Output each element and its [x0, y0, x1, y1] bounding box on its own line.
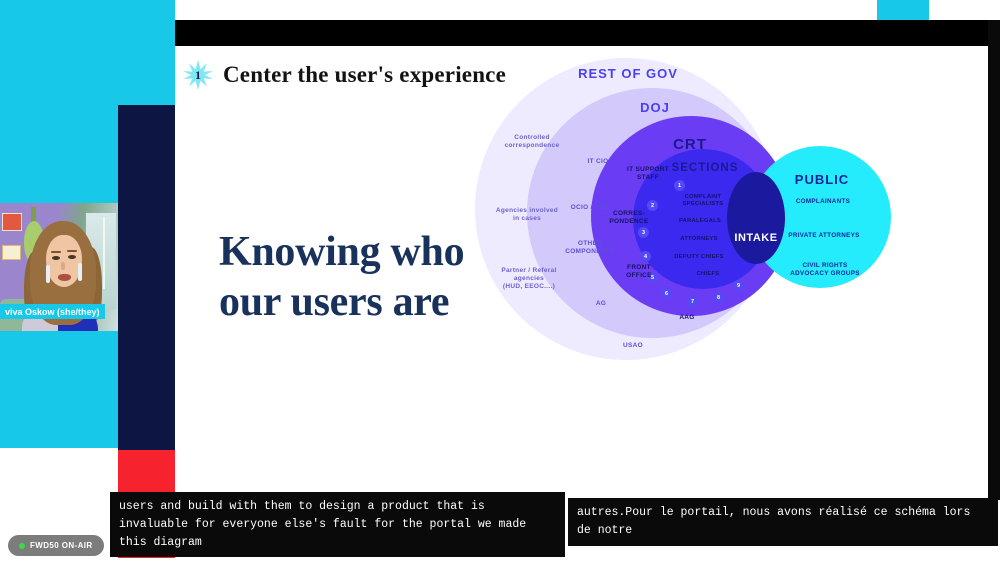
- sections-item: COMPLAINT SPECIALISTS: [661, 194, 745, 208]
- top-right-white-block: [929, 0, 1000, 22]
- doj-item: IT CIO: [571, 158, 625, 166]
- step-number: 1: [183, 60, 213, 90]
- top-white-band: [175, 0, 877, 20]
- section-number-dot: 1: [674, 180, 685, 191]
- on-air-label: FWD50 ON-AIR: [30, 541, 93, 550]
- speaker-webcam[interactable]: viva Oskow (she/they): [0, 203, 118, 331]
- wall-art-icon: [2, 245, 21, 260]
- slide-heading-line-1: Knowing who: [219, 228, 519, 278]
- on-air-status-dot: [19, 543, 25, 549]
- stream-stage: 1 Center the user's experience Knowing w…: [0, 0, 1000, 564]
- doj-item: USAO: [613, 342, 653, 350]
- section-number-dot: 7: [687, 296, 698, 307]
- top-right-cyan-block: [877, 0, 929, 22]
- label-crt: CRT: [645, 136, 735, 154]
- caption-french: autres.Pour le portail, nous avons réali…: [568, 498, 998, 546]
- doj-item: OTHER COMPONENTS: [557, 240, 623, 256]
- caption-english: users and build with them to design a pr…: [110, 492, 565, 557]
- wall-art-icon: [2, 213, 22, 231]
- speaker-nose: [61, 262, 65, 270]
- on-air-badge: FWD50 ON-AIR: [8, 535, 104, 556]
- crt-item: IT SUPPORT STAFF: [619, 166, 677, 182]
- label-public: PUBLIC: [775, 172, 869, 188]
- speaker-eye-left: [52, 256, 60, 260]
- gov-item: Partner / Referal agencies (HUD, EEOC...…: [481, 267, 577, 290]
- section-number-dot: 4: [640, 251, 651, 262]
- window-bar-decor: [103, 217, 105, 289]
- slide-title-row: 1 Center the user's experience: [183, 60, 506, 90]
- crt-item: FRONT OFFICE: [615, 264, 663, 280]
- slide-heading-line-2: our users are: [219, 278, 519, 328]
- sections-item: ATTORNEYS: [665, 236, 733, 243]
- public-item: CIVIL RIGHTS ADVOCACY GROUPS: [773, 262, 877, 277]
- slide-top-black-bar: [175, 20, 1000, 46]
- label-rest-of-gov: REST OF GOV: [533, 66, 723, 82]
- section-number-dot: 8: [713, 292, 724, 303]
- speaker-eye-right: [68, 255, 76, 259]
- right-black-bar: [988, 20, 1000, 500]
- speaker-name-label: viva Oskow (she/they): [0, 304, 105, 319]
- speaker-brow-left: [51, 251, 61, 253]
- section-number-dot: 6: [661, 288, 672, 299]
- doj-item: AG: [583, 300, 619, 308]
- presentation-slide: 1 Center the user's experience Knowing w…: [175, 46, 988, 496]
- speaker-earring-right: [78, 263, 82, 281]
- bottom-white-band: [0, 558, 1000, 564]
- user-ecosystem-diagram: 1 2 3 4 5 6 7 8 9 REST OF GOV DOJ CRT SE…: [475, 52, 985, 492]
- sections-item: CHIEFS: [679, 271, 737, 278]
- slide-title: Center the user's experience: [223, 62, 506, 88]
- public-item: PRIVATE ATTORNEYS: [771, 232, 877, 240]
- sections-item: PARALEGALS: [663, 218, 737, 225]
- section-number-dot: 3: [638, 227, 649, 238]
- speaker-mouth: [58, 274, 71, 281]
- left-navy-band: [118, 105, 175, 450]
- top-left-cyan-band: [0, 0, 175, 105]
- section-number-dot: 9: [733, 280, 744, 291]
- speaker-earring-left: [46, 265, 50, 283]
- star-burst-icon: 1: [183, 60, 213, 90]
- slide-heading: Knowing who our users are: [219, 228, 519, 327]
- label-doj: DOJ: [585, 100, 725, 116]
- crt-item: AAG: [671, 314, 703, 322]
- sections-item: DEPUTY CHIEFS: [663, 254, 735, 261]
- public-item: COMPLAINANTS: [775, 198, 871, 206]
- crt-item: CORRES- PONDENCE: [603, 210, 655, 226]
- speaker-brow-right: [67, 250, 77, 252]
- gov-item: Controlled correspondence: [489, 134, 575, 150]
